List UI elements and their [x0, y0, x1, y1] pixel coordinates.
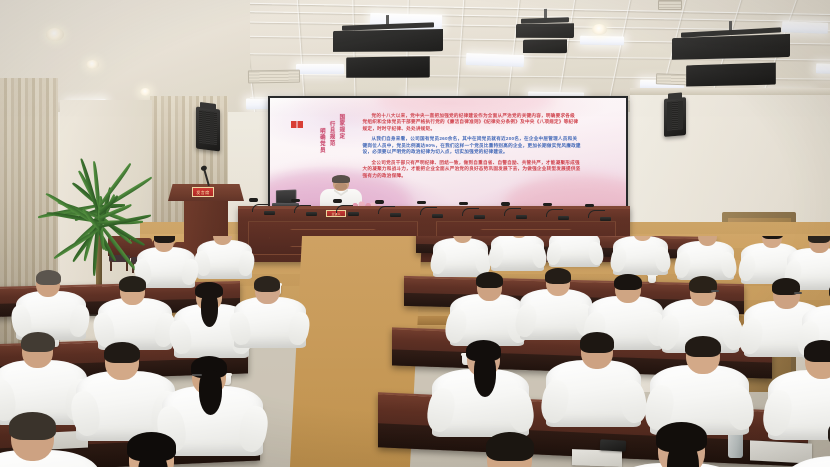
ceiling-downlight	[592, 24, 607, 35]
table-microphone-icon	[462, 204, 486, 216]
audience-member	[196, 236, 253, 277]
audience-hair	[104, 342, 140, 363]
slide-text-line: 规定，时时守纪律、处处讲规矩。	[363, 126, 616, 133]
wall-speaker-left	[196, 107, 220, 152]
audience-member	[676, 236, 735, 279]
audience-hair	[254, 276, 280, 292]
audience-hair	[36, 270, 62, 285]
audience-hair	[21, 332, 55, 352]
slide-vertical-title: 国家规定行且规范明确党员	[318, 114, 344, 154]
podium-nameplate: 发言席	[192, 187, 214, 197]
meeting-room-photo: 国家规定行且规范明确党员 党的十八大以来，党中央一直把加强党的纪律建设作为全面从…	[0, 0, 830, 467]
table-microphone-icon	[420, 203, 444, 215]
audience-member	[430, 340, 531, 435]
audience-member	[448, 272, 525, 344]
audience-hair	[545, 268, 571, 284]
audience-hair	[154, 236, 175, 243]
slide-vertical-title-line: 明确党员	[318, 128, 325, 154]
table-microphone-icon	[336, 201, 360, 213]
audience-member	[544, 332, 643, 425]
audience-hair	[685, 336, 721, 357]
audience-member	[232, 276, 307, 347]
slide-text-line: 设，必须要以严明党的政治纪律为切入点，切实加强党的纪律建设。	[363, 149, 616, 156]
audience-hair	[580, 332, 615, 353]
audience-hair	[486, 432, 534, 461]
seated-audience	[0, 236, 830, 467]
wall-speaker-right	[664, 97, 686, 137]
hanging-speaker-right	[672, 27, 790, 93]
audience-member	[96, 276, 173, 348]
audience-member	[436, 432, 574, 467]
slide-body-text: 党的十八大以来，党中央一直把加强党的纪律建设作为全面从严治党的关键内容，明确要求…	[363, 113, 616, 183]
audience-hair	[614, 274, 642, 290]
audience-member	[604, 422, 749, 467]
glasses-icon	[711, 290, 719, 292]
audience-member	[86, 432, 226, 467]
audience-hair	[476, 272, 503, 288]
table-microphone-icon	[294, 201, 318, 213]
cornice-right	[630, 88, 830, 95]
audience-member	[612, 236, 669, 273]
table-microphone-icon	[504, 204, 528, 216]
table-microphone-icon	[252, 200, 276, 212]
ceiling-air-vent	[248, 70, 300, 84]
audience-ponytail	[474, 353, 496, 397]
audience-hair	[9, 412, 55, 440]
slide-vertical-title-line: 行且规范	[328, 121, 335, 154]
audience-member	[490, 236, 545, 270]
table-microphone-icon	[588, 206, 612, 218]
hanging-speaker-center	[333, 22, 443, 84]
slide-text-line: 从我们自身来看，公司国有党员260余名，其中在岗党员就有近200名，在企业中层管…	[363, 136, 616, 143]
audience-hair	[808, 236, 830, 243]
audience-ponytail	[199, 370, 222, 416]
ceiling-air-vent	[658, 0, 682, 10]
audience-ponytail	[667, 441, 699, 467]
slide-paragraph: 党的十八大以来，党中央一直把加强党的纪律建设作为全面从严治党的关键内容，明确要求…	[363, 113, 616, 133]
slide-vertical-title-line: 国家规定	[338, 114, 345, 154]
table-microphone-icon	[546, 205, 570, 217]
hanging-speaker-far	[516, 17, 574, 57]
audience-shirt	[783, 456, 830, 467]
audience-hair	[762, 236, 783, 239]
slide-paragraph: 从我们自身来看，公司国有党员260余名，其中在岗党员就有近200名，在企业中层管…	[363, 136, 616, 156]
audience-member	[14, 270, 88, 339]
slide-text-line: 党组织和全体党员干部要严格执行党的《廉洁自律准则》《纪律处分条例》及中央《八项规…	[363, 119, 616, 126]
slide-corner-mark	[291, 121, 303, 128]
slide-text-line: 大的凝聚力和战斗力，才能把企业全面从严治党的良好态势巩固发展下去，为做强企业转型…	[363, 166, 616, 173]
audience-hair	[804, 340, 830, 362]
slide-paragraph: 全公司党员干部只有严明纪律、团结一致，做到自重自省、自警自励、共管共严，才能凝聚…	[363, 160, 616, 180]
audience-member	[518, 268, 593, 339]
audience-member	[432, 236, 489, 275]
slide-text-line: 强有力的政治保障。	[363, 173, 616, 180]
ceiling-downlight	[140, 88, 151, 96]
table-microphone-icon	[378, 202, 402, 214]
audience-member	[548, 236, 601, 266]
ceiling-panel-light	[816, 63, 830, 74]
glasses-icon	[192, 374, 202, 376]
audience-member	[648, 336, 751, 432]
audience-member	[780, 418, 830, 467]
ceiling-downlight	[46, 28, 64, 41]
audience-hair	[119, 276, 146, 292]
ceiling-panel-light	[580, 36, 624, 46]
